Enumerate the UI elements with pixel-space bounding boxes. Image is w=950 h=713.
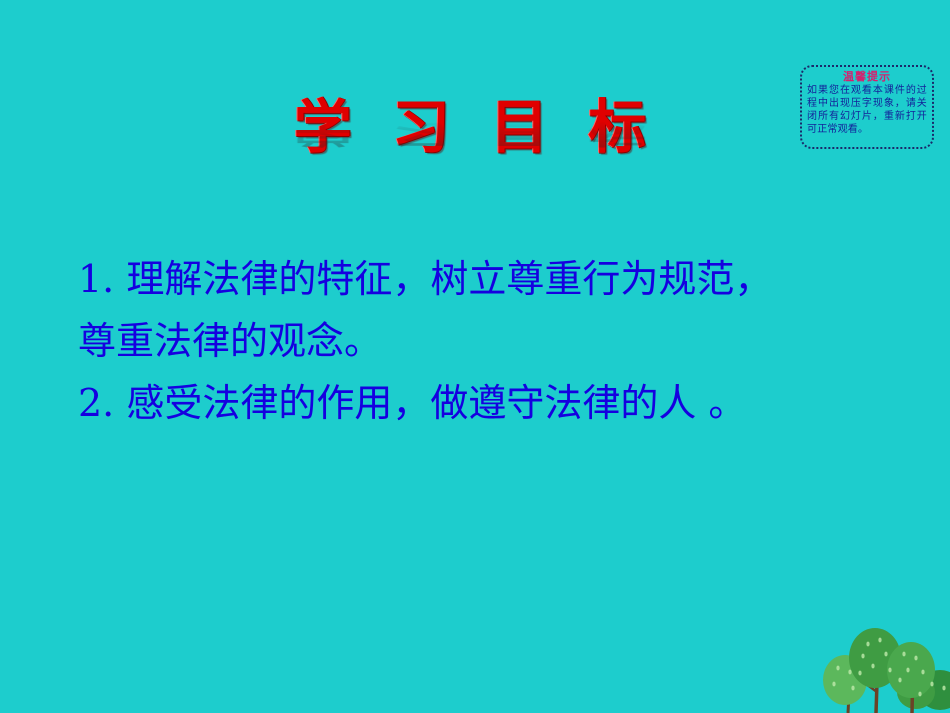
page-title-reflection: 学 习 目 标 [0,120,950,148]
page-title: 学 习 目 标 学 习 目 标 [0,96,950,210]
objective-line: 2. 感受法律的作用，做遵守法律的人 。 [78,372,878,434]
objective-line: 1. 理解法律的特征，树立尊重行为规范， [78,248,878,310]
objective-line: 尊重法律的观念。 [78,310,878,372]
tip-box-title: 温馨提示 [807,70,927,83]
trees-icon [820,618,950,713]
slide-canvas: 温馨提示 如果您在观看本课件的过程中出现压字现象，请关闭所有幻灯片，重新打开可正… [0,0,950,713]
objectives-list: 1. 理解法律的特征，树立尊重行为规范， 尊重法律的观念。 2. 感受法律的作用… [78,248,878,434]
